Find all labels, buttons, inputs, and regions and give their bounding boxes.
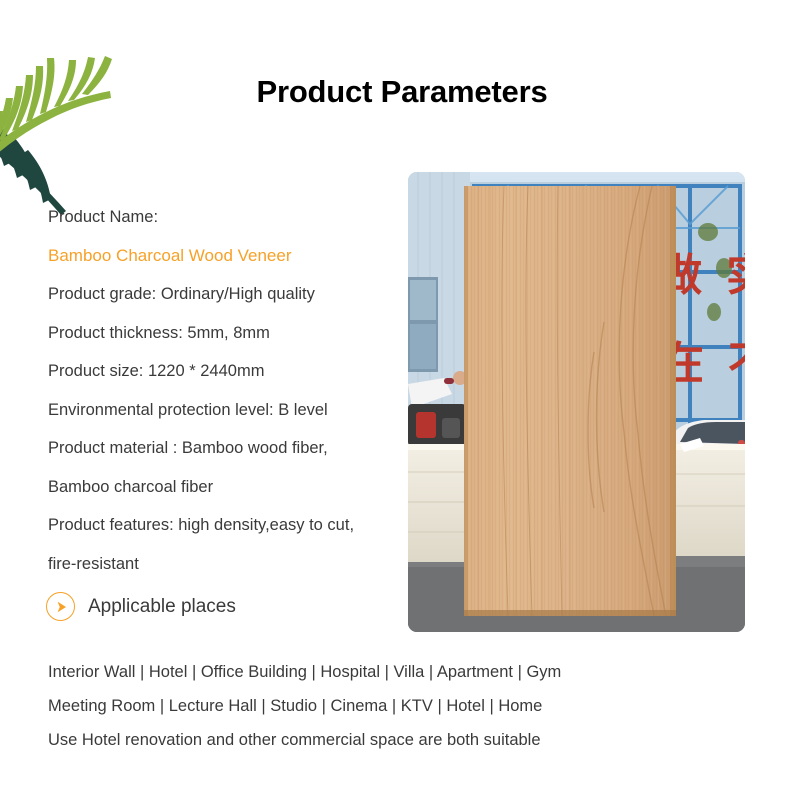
applicable-places-heading: Applicable places <box>46 592 236 621</box>
product-parameters-page: Product Parameters <box>0 0 800 800</box>
list-item: Meeting Room | Lecture Hall | Studio | C… <box>48 689 748 723</box>
list-item: Interior Wall | Hotel | Office Building … <box>48 655 748 689</box>
spec-line: Product features: high density,easy to c… <box>48 506 408 545</box>
spec-line: Product thickness: 5mm, 8mm <box>48 314 408 353</box>
arrow-right-circle-icon <box>46 592 75 621</box>
page-title: Product Parameters <box>0 74 800 110</box>
svg-text:实: 实 <box>726 250 745 301</box>
applicable-places-label: Applicable places <box>88 596 236 618</box>
palm-leaf-icon <box>0 36 138 221</box>
spec-line: fire-resistant <box>48 545 408 584</box>
product-photo: 做 实 在 不 实 <box>408 172 745 632</box>
spec-line: Product size: 1220 * 2440mm <box>48 352 408 391</box>
spec-list: Product Name: Bamboo Charcoal Wood Venee… <box>48 198 408 583</box>
spec-line: Product material : Bamboo wood fiber, <box>48 429 408 468</box>
spec-line: Product Name: <box>48 198 408 237</box>
svg-text:不: 不 <box>728 338 745 389</box>
list-item: Use Hotel renovation and other commercia… <box>48 723 748 757</box>
spec-line: Environmental protection level: B level <box>48 391 408 430</box>
spec-line-product-name: Bamboo Charcoal Wood Veneer <box>48 237 408 276</box>
spec-line: Bamboo charcoal fiber <box>48 468 408 507</box>
spec-line: Product grade: Ordinary/High quality <box>48 275 408 314</box>
applicable-places-list: Interior Wall | Hotel | Office Building … <box>48 655 748 757</box>
